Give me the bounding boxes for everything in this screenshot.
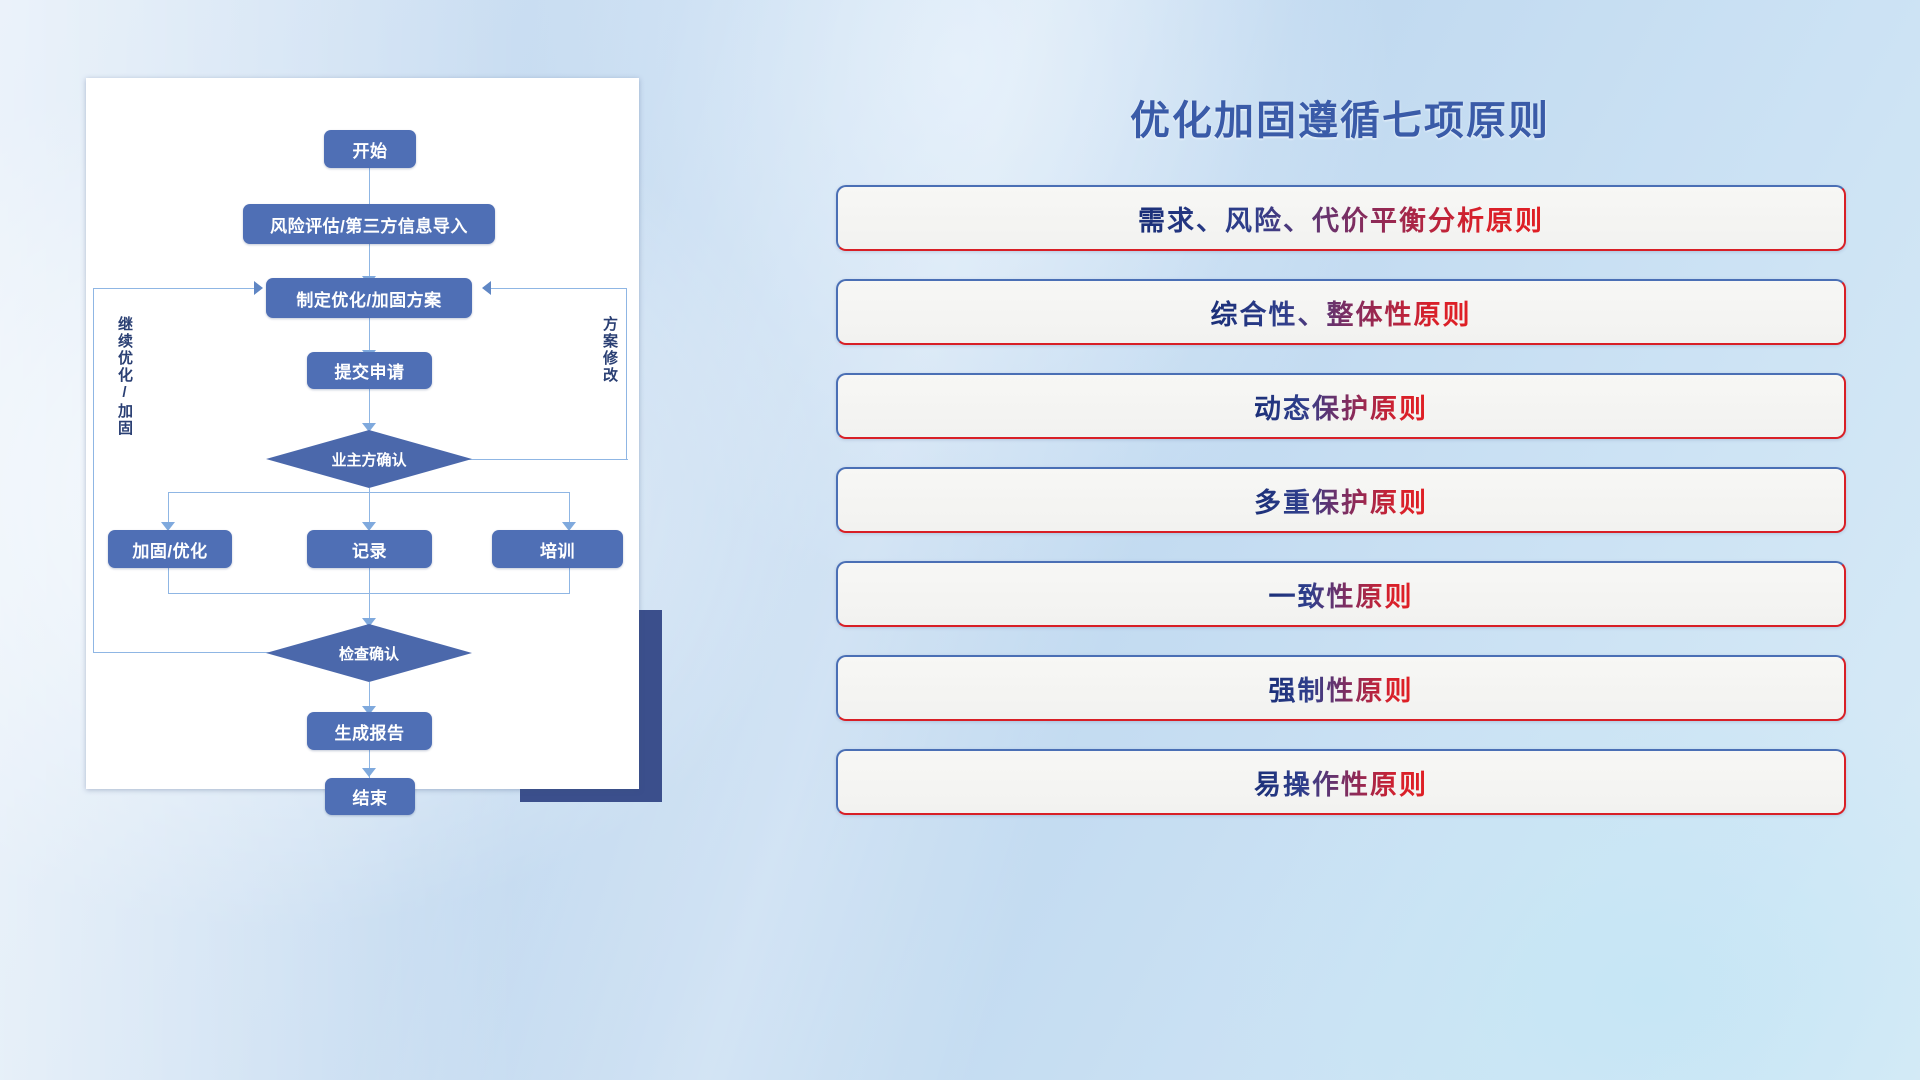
flow-node-start[interactable]: 开始 bbox=[324, 130, 416, 168]
flow-node-submit-label: 提交申请 bbox=[335, 358, 405, 383]
connector-loop-left-top bbox=[93, 288, 256, 289]
principle-item-6[interactable]: 强制性原则 bbox=[836, 655, 1846, 721]
principle-item-7-label: 易操作性原则 bbox=[1254, 763, 1428, 802]
edge-label-right-loop: 方案修改 bbox=[599, 316, 620, 384]
principle-item-4[interactable]: 多重保护原则 bbox=[836, 467, 1846, 533]
connector-loop-right-vertical bbox=[626, 288, 627, 460]
arrowhead-loop-left-plan bbox=[254, 281, 263, 295]
principle-item-3[interactable]: 动态保护原则 bbox=[836, 373, 1846, 439]
flow-node-reinforce[interactable]: 加固/优化 bbox=[108, 530, 232, 568]
flow-node-check-confirm[interactable]: 检查确认 bbox=[266, 624, 472, 682]
principle-item-1-label: 需求、风险、代价平衡分析原则 bbox=[1138, 199, 1544, 238]
principles-list: 需求、风险、代价平衡分析原则 综合性、整体性原则 动态保护原则 多重保护原则 一… bbox=[836, 185, 1846, 843]
connector-reinforce-merge bbox=[168, 568, 169, 594]
flow-node-reinforce-label: 加固/优化 bbox=[132, 537, 207, 562]
principle-item-4-label: 多重保护原则 bbox=[1254, 481, 1428, 520]
flow-node-end[interactable]: 结束 bbox=[325, 778, 415, 815]
flow-node-risk-assessment-label: 风险评估/第三方信息导入 bbox=[270, 212, 468, 237]
arrowhead-loop-right-plan bbox=[482, 281, 491, 295]
connector-bus-reinforce bbox=[168, 492, 169, 526]
principle-item-5-label: 一致性原则 bbox=[1269, 575, 1414, 614]
flow-node-check-confirm-label: 检查确认 bbox=[339, 643, 399, 664]
principle-item-2-label: 综合性、整体性原则 bbox=[1211, 293, 1472, 332]
connector-loop-left-vertical bbox=[93, 288, 94, 653]
principles-title: 优化加固遵循七项原则 bbox=[820, 88, 1860, 146]
flow-node-submit[interactable]: 提交申请 bbox=[307, 352, 432, 389]
principle-item-2[interactable]: 综合性、整体性原则 bbox=[836, 279, 1846, 345]
flow-node-start-label: 开始 bbox=[353, 137, 388, 162]
principle-item-1[interactable]: 需求、风险、代价平衡分析原则 bbox=[836, 185, 1846, 251]
flowchart-canvas: 继续优化/加固 方案修改 开始 风险评估/第三方信息导入 制定优化/加固方案 提… bbox=[86, 78, 639, 789]
flow-node-record[interactable]: 记录 bbox=[307, 530, 432, 568]
flow-node-owner-confirm-label: 业主方确认 bbox=[331, 449, 406, 470]
connector-bus-train bbox=[569, 492, 570, 526]
flow-node-record-label: 记录 bbox=[352, 537, 387, 562]
principle-item-5[interactable]: 一致性原则 bbox=[836, 561, 1846, 627]
edge-label-left-loop: 继续优化/加固 bbox=[114, 316, 135, 437]
principles-panel: 优化加固遵循七项原则 需求、风险、代价平衡分析原则 综合性、整体性原则 动态保护… bbox=[820, 70, 1860, 860]
flow-node-end-label: 结束 bbox=[353, 784, 388, 809]
principle-item-3-label: 动态保护原则 bbox=[1254, 387, 1428, 426]
connector-train-merge bbox=[569, 568, 570, 594]
principle-item-6-label: 强制性原则 bbox=[1269, 669, 1414, 708]
principle-item-7[interactable]: 易操作性原则 bbox=[836, 749, 1846, 815]
flow-node-risk-assessment[interactable]: 风险评估/第三方信息导入 bbox=[243, 204, 495, 244]
flow-node-report-label: 生成报告 bbox=[335, 719, 405, 744]
flow-node-owner-confirm[interactable]: 业主方确认 bbox=[266, 430, 472, 488]
flow-node-report[interactable]: 生成报告 bbox=[307, 712, 432, 750]
connector-loop-right-top bbox=[490, 288, 627, 289]
flowchart-card: 继续优化/加固 方案修改 开始 风险评估/第三方信息导入 制定优化/加固方案 提… bbox=[86, 78, 639, 789]
connector-bus-record bbox=[369, 492, 370, 526]
flow-node-training-label: 培训 bbox=[540, 537, 575, 562]
flow-node-plan-label: 制定优化/加固方案 bbox=[296, 286, 441, 311]
connector-start-risk bbox=[369, 168, 370, 208]
flow-node-training[interactable]: 培训 bbox=[492, 530, 623, 568]
flow-node-plan[interactable]: 制定优化/加固方案 bbox=[266, 278, 472, 318]
arrowhead-report-end bbox=[362, 768, 376, 777]
